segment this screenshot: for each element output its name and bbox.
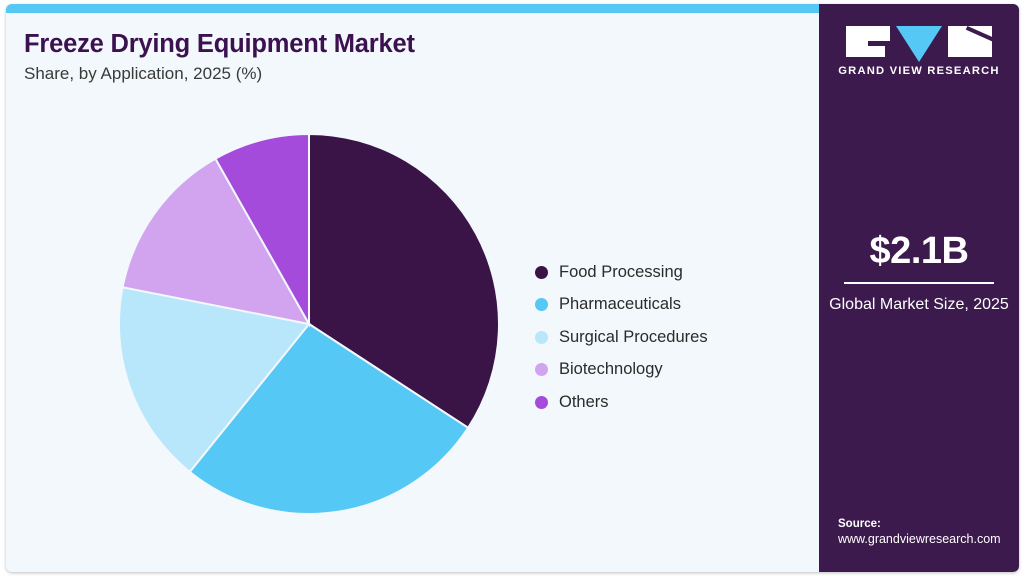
legend-label: Biotechnology — [559, 360, 663, 379]
letter-v-triangle-icon — [896, 26, 942, 62]
pie-slice-group — [119, 134, 499, 514]
legend-item-others[interactable]: Others — [535, 386, 795, 419]
logo-marks — [819, 26, 1019, 58]
legend-item-pharmaceuticals[interactable]: Pharmaceuticals — [535, 289, 795, 322]
legend-swatch-icon — [535, 298, 548, 311]
stat-divider — [844, 282, 994, 284]
brand-panel: GRAND VIEW RESEARCH $2.1B Global Market … — [819, 4, 1019, 572]
headline-stat: $2.1B Global Market Size, 2025 — [819, 232, 1019, 315]
letter-g-icon — [846, 26, 890, 57]
stat-value: $2.1B — [819, 232, 1019, 270]
page-title: Freeze Drying Equipment Market — [24, 30, 415, 59]
legend-item-surgical-procedures[interactable]: Surgical Procedures — [535, 321, 795, 354]
stat-caption: Global Market Size, 2025 — [819, 294, 1019, 316]
legend-label: Surgical Procedures — [559, 328, 708, 347]
infographic-card: Freeze Drying Equipment Market Share, by… — [6, 4, 1019, 572]
brand-logo: GRAND VIEW RESEARCH — [819, 26, 1019, 77]
chart-legend: Food Processing Pharmaceuticals Surgical… — [535, 256, 795, 419]
legend-label: Pharmaceuticals — [559, 295, 681, 314]
legend-swatch-icon — [535, 363, 548, 376]
pie-chart-svg — [114, 129, 504, 519]
page-subtitle: Share, by Application, 2025 (%) — [24, 64, 262, 84]
letter-r-icon — [948, 26, 992, 57]
brand-name: GRAND VIEW RESEARCH — [819, 65, 1019, 77]
legend-swatch-icon — [535, 396, 548, 409]
source-url[interactable]: www.grandviewresearch.com — [838, 532, 1018, 546]
legend-item-food-processing[interactable]: Food Processing — [535, 256, 795, 289]
legend-swatch-icon — [535, 331, 548, 344]
legend-swatch-icon — [535, 266, 548, 279]
source-block: Source: www.grandviewresearch.com — [838, 518, 1018, 546]
legend-item-biotechnology[interactable]: Biotechnology — [535, 354, 795, 387]
legend-label: Others — [559, 393, 609, 412]
pie-chart — [114, 129, 504, 519]
chart-pane: Freeze Drying Equipment Market Share, by… — [6, 13, 819, 572]
legend-label: Food Processing — [559, 263, 683, 282]
infographic-root: Freeze Drying Equipment Market Share, by… — [0, 0, 1025, 576]
source-label: Source: — [838, 518, 1018, 530]
